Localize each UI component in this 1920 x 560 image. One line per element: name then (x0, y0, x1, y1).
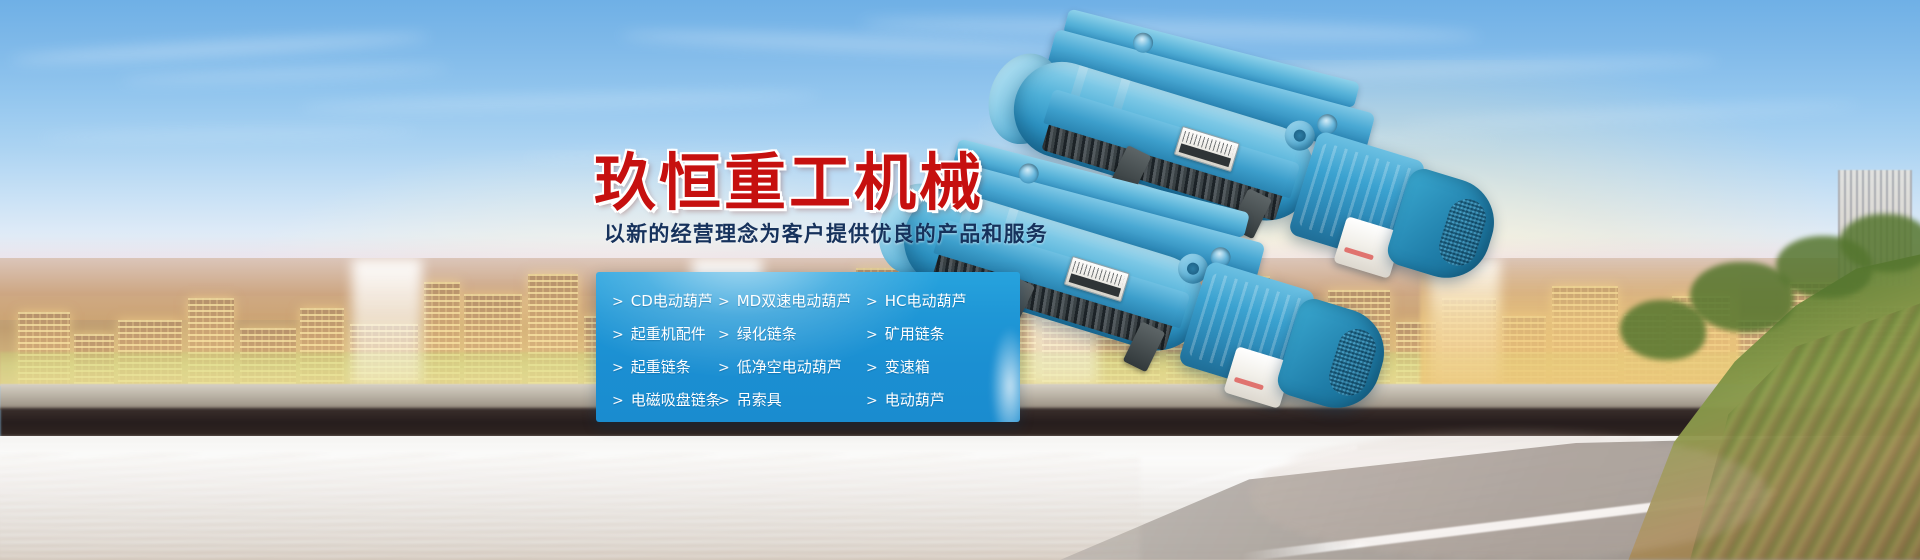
electric-hoist-group (1040, 40, 1600, 440)
light-shaft (352, 258, 422, 386)
product-link-mining-chain[interactable]: > 矿用链条 (866, 327, 945, 342)
fan-grill (1324, 324, 1380, 400)
chevron-right-icon: > (612, 295, 624, 309)
chevron-right-icon: > (612, 394, 624, 408)
product-list-rows: > CD电动葫芦 > MD双速电动葫芦 > HC电动葫芦 > 起重机配件 (596, 272, 1020, 422)
product-label: MD双速电动葫芦 (737, 294, 852, 309)
page-title: 玖恒重工机械 (594, 132, 984, 222)
product-link-low-headroom-hoist[interactable]: > 低净空电动葫芦 (718, 360, 866, 375)
product-link-gearbox[interactable]: > 变速箱 (866, 360, 930, 375)
chevron-right-icon: > (866, 361, 878, 375)
product-link-greening-chain[interactable]: > 绿化链条 (718, 327, 866, 342)
product-link-lifting-chain[interactable]: > 起重链条 (596, 360, 718, 375)
product-row: > CD电动葫芦 > MD双速电动葫芦 > HC电动葫芦 (596, 285, 1020, 318)
product-link-magnetic-chuck-chain[interactable]: > 电磁吸盘链条 (596, 393, 718, 408)
product-row: > 起重机配件 > 绿化链条 > 矿用链条 (596, 318, 1020, 351)
product-link-crane-parts[interactable]: > 起重机配件 (596, 327, 718, 342)
product-label: 电磁吸盘链条 (631, 393, 721, 408)
product-label: 低净空电动葫芦 (737, 360, 842, 375)
product-label: CD电动葫芦 (631, 294, 713, 309)
chevron-right-icon: > (718, 328, 730, 342)
product-list-panel: > CD电动葫芦 > MD双速电动葫芦 > HC电动葫芦 > 起重机配件 (596, 272, 1020, 422)
product-label: 电动葫芦 (885, 393, 945, 408)
product-link-slings[interactable]: > 吊索具 (718, 393, 866, 408)
road-blur-sweep (0, 455, 1140, 560)
chevron-right-icon: > (718, 295, 730, 309)
fan-grill (1434, 194, 1490, 270)
chevron-right-icon: > (866, 328, 878, 342)
product-label: HC电动葫芦 (885, 294, 967, 309)
chevron-right-icon: > (718, 361, 730, 375)
product-link-hc-hoist[interactable]: > HC电动葫芦 (866, 294, 967, 309)
product-label: 吊索具 (737, 393, 782, 408)
product-label: 矿用链条 (885, 327, 945, 342)
product-label: 绿化链条 (737, 327, 797, 342)
chevron-right-icon: > (718, 394, 730, 408)
product-link-md-dual-speed-hoist[interactable]: > MD双速电动葫芦 (718, 294, 866, 309)
chevron-right-icon: > (612, 361, 624, 375)
page-subtitle: 以新的经营理念为客户提供优良的产品和服务 (604, 218, 1048, 248)
product-row: > 电磁吸盘链条 > 吊索具 > 电动葫芦 (596, 384, 1020, 417)
dust-swirl (1250, 430, 1770, 560)
chevron-right-icon: > (612, 328, 624, 342)
product-row: > 起重链条 > 低净空电动葫芦 > 变速箱 (596, 351, 1020, 384)
chevron-right-icon: > (866, 394, 878, 408)
product-label: 起重机配件 (631, 327, 706, 342)
product-link-cd-hoist[interactable]: > CD电动葫芦 (596, 294, 718, 309)
product-link-electric-hoist[interactable]: > 电动葫芦 (866, 393, 945, 408)
product-label: 变速箱 (885, 360, 930, 375)
product-label: 起重链条 (631, 360, 691, 375)
chevron-right-icon: > (866, 295, 878, 309)
hero-banner: 玖恒重工机械 以新的经营理念为客户提供优良的产品和服务 > CD电动葫芦 > M… (0, 0, 1920, 560)
